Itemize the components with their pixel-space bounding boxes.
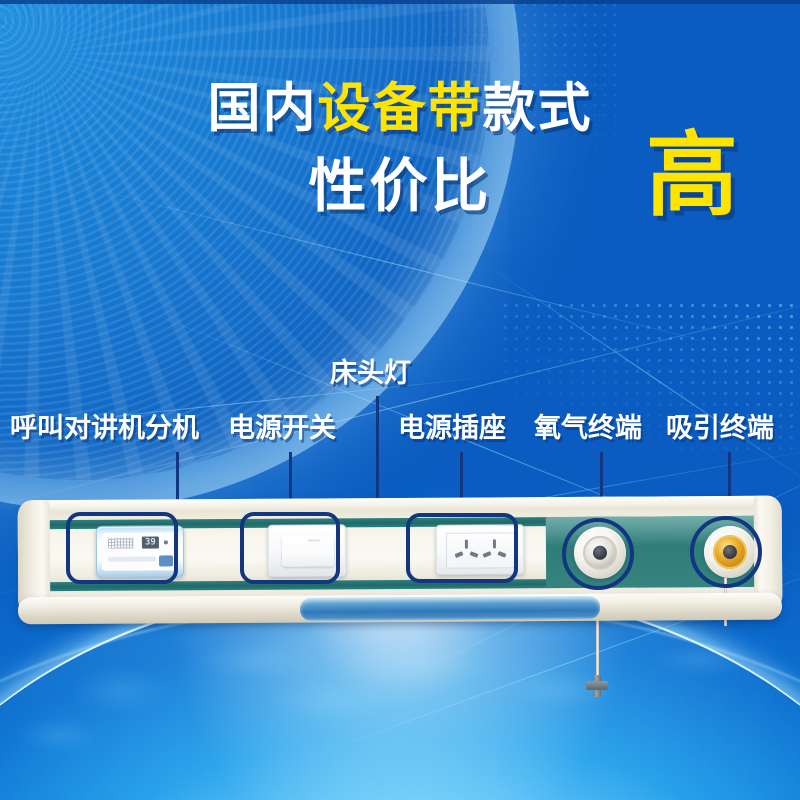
suction-outlet-inner xyxy=(713,535,747,569)
socket-face xyxy=(446,532,516,568)
socket-pin-ground xyxy=(465,540,468,549)
medical-equipment-panel: 39 xyxy=(18,498,782,626)
socket-pin-live xyxy=(455,551,464,558)
headline-part-1: 国内 xyxy=(208,78,318,139)
oxygen-outlet-port xyxy=(593,546,607,560)
oxygen-outlet[interactable] xyxy=(574,527,626,579)
banner-stage: 国内设备带款式 性价比 高 呼叫对讲机分机电源开关床头灯电源插座氧气终端吸引终端… xyxy=(0,0,800,800)
power-socket[interactable] xyxy=(436,524,524,575)
intercom-face: 39 xyxy=(102,532,178,570)
suction-outlet[interactable] xyxy=(704,526,756,578)
headline-big-word: 高 xyxy=(646,130,738,222)
intercom-display: 39 xyxy=(142,536,159,548)
suction-outlet-port xyxy=(723,545,737,559)
nurse-call-intercom[interactable]: 39 xyxy=(96,525,184,578)
halftone-dots-right xyxy=(500,300,800,450)
socket-pin-ground xyxy=(493,539,496,548)
top-band xyxy=(0,0,800,4)
light-switch[interactable] xyxy=(268,524,346,576)
pull-cord-handle[interactable] xyxy=(586,675,608,697)
headline-part-2: 款式 xyxy=(483,78,593,139)
socket-pin-neutral xyxy=(470,551,479,558)
socket-pin-neutral xyxy=(498,551,507,558)
bed-lamp-diffuser xyxy=(300,596,600,621)
status-led-icon xyxy=(164,540,168,544)
speaker-grille-icon xyxy=(108,538,134,549)
intercom-label-strip xyxy=(108,556,156,561)
socket-outlet-right[interactable] xyxy=(482,539,508,561)
socket-outlet-left[interactable] xyxy=(454,540,480,562)
socket-pin-live xyxy=(483,551,492,558)
oxygen-outlet-inner xyxy=(583,536,617,570)
intercom-call-button[interactable] xyxy=(159,555,173,566)
headline-accent: 设备带 xyxy=(318,78,483,139)
switch-rocker-key[interactable] xyxy=(282,535,334,566)
